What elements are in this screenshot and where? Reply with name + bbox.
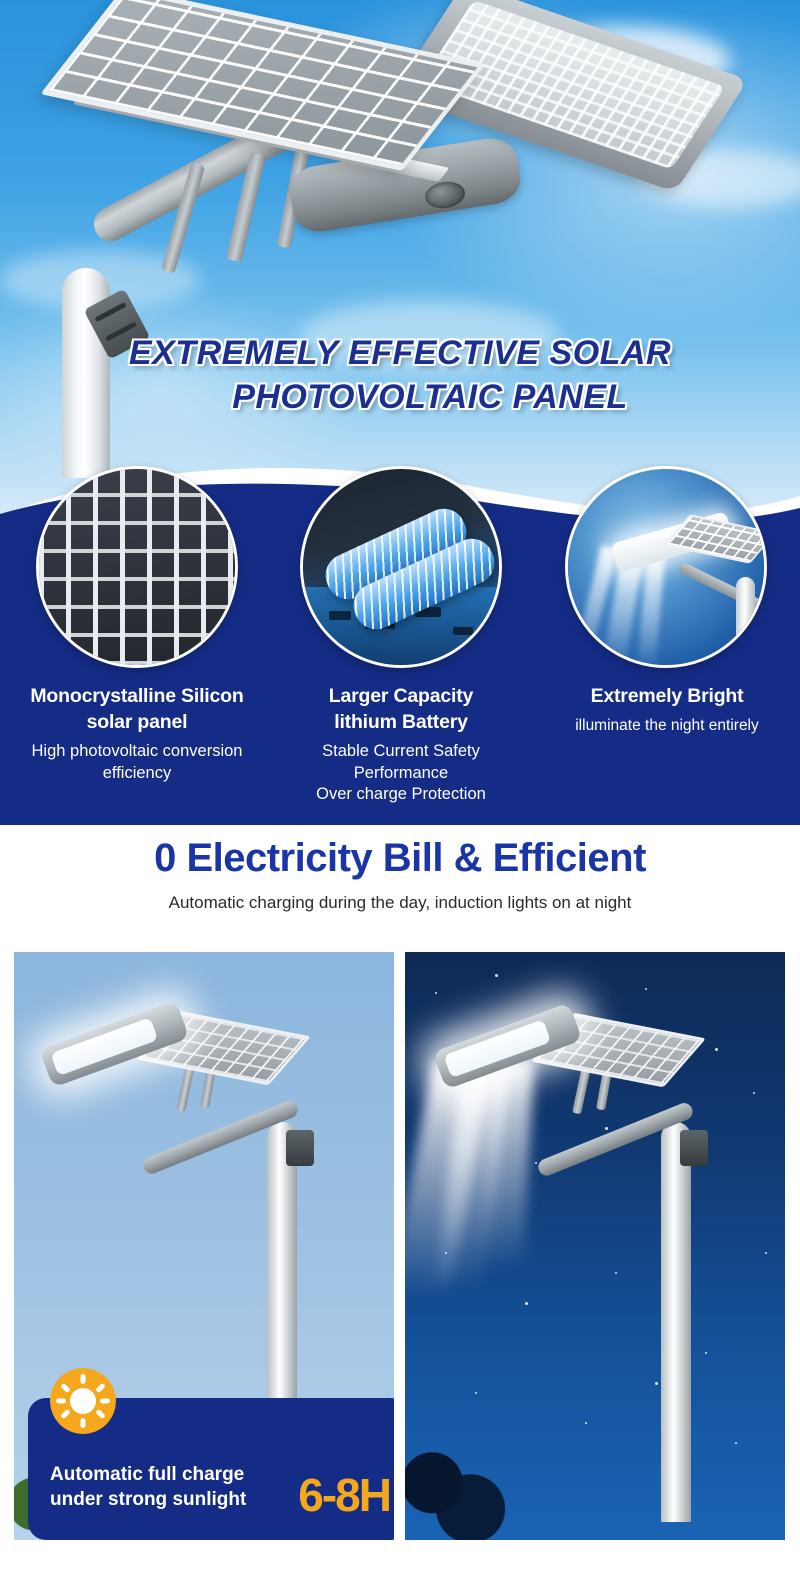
feature-2-title-line1: Larger Capacity	[329, 685, 473, 707]
nighttime-photo: Automatic lights on at night 12-14H	[405, 952, 785, 1540]
chip	[453, 627, 473, 635]
feature-circle-battery	[300, 466, 502, 668]
feature-2-desc-line2: Performance	[354, 764, 448, 782]
led-array	[443, 1019, 551, 1078]
lamp-pole	[661, 1122, 691, 1522]
middle-section: 0 Electricity Bill & Efficient Automatic…	[0, 836, 800, 913]
led-luminaire-head	[40, 1000, 190, 1087]
feature-2-title-line2: lithium Battery	[334, 711, 468, 733]
sun-icon	[50, 1368, 116, 1434]
led-luminaire-head	[433, 1002, 583, 1089]
feature-1-title-line1: Monocrystalline Silicon	[30, 685, 243, 707]
daytime-photo: Automatic full charge under strong sunli…	[14, 952, 394, 1540]
solar-panel-cells	[49, 0, 478, 166]
led-array	[50, 1017, 158, 1076]
feature-circle-bright-light	[565, 466, 767, 668]
headline-line-2: PHOTOVOLTAIC PANEL	[0, 376, 800, 420]
feature-image-circles	[0, 466, 800, 686]
feature-1-desc-line1: High photovoltaic conversion	[32, 742, 243, 760]
panel-strut	[176, 1064, 195, 1113]
day-mode-bar: Automatic full charge under strong sunli…	[28, 1398, 394, 1540]
feature-1-desc-line2: efficiency	[103, 764, 171, 782]
feature-caption-1: Monocrystalline Silicon solar panel High…	[4, 684, 270, 784]
mini-pole	[736, 577, 755, 668]
bright-streetlight-icon	[568, 469, 764, 665]
product-marketing-page: EXTREMELY EFFECTIVE SOLAR PHOTOVOLTAIC P…	[0, 0, 800, 1579]
feature-1-title-line2: solar panel	[87, 711, 188, 733]
feature-3-desc-line1: illuminate the night entirely	[575, 717, 759, 734]
feature-caption-2: Larger Capacity lithium Battery Stable C…	[268, 684, 534, 806]
section-heading: 0 Electricity Bill & Efficient	[0, 836, 800, 881]
lithium-battery-icon	[303, 469, 499, 665]
mini-solar-panel	[664, 514, 767, 564]
solar-cell-grid-icon	[39, 469, 235, 665]
headline-line-1: EXTREMELY EFFECTIVE SOLAR	[0, 332, 800, 376]
day-mode-label: Automatic full charge under strong sunli…	[50, 1462, 246, 1512]
mode-comparison: Automatic full charge under strong sunli…	[0, 952, 800, 1552]
feature-2-desc-line1: Stable Current Safety	[322, 742, 480, 760]
feature-3-title-line1: Extremely Bright	[591, 685, 744, 707]
section-subheading: Automatic charging during the day, induc…	[0, 893, 800, 913]
pole-clamp	[286, 1130, 314, 1166]
pole-clamp	[680, 1130, 708, 1166]
day-charge-hours: 6-8H	[298, 1472, 390, 1518]
nighttime-street-light	[405, 952, 785, 1540]
day-label-line1: Automatic full charge	[50, 1464, 244, 1485]
chip	[329, 611, 351, 620]
feature-circle-solar-cell	[36, 466, 238, 668]
feature-caption-3: Extremely Bright illuminate the night en…	[534, 684, 800, 736]
day-label-line2: under strong sunlight	[50, 1489, 246, 1510]
hero-headline: EXTREMELY EFFECTIVE SOLAR PHOTOVOLTAIC P…	[0, 332, 800, 419]
feature-2-desc-line3: Over charge Protection	[316, 785, 486, 803]
panel-strut	[572, 1066, 591, 1115]
